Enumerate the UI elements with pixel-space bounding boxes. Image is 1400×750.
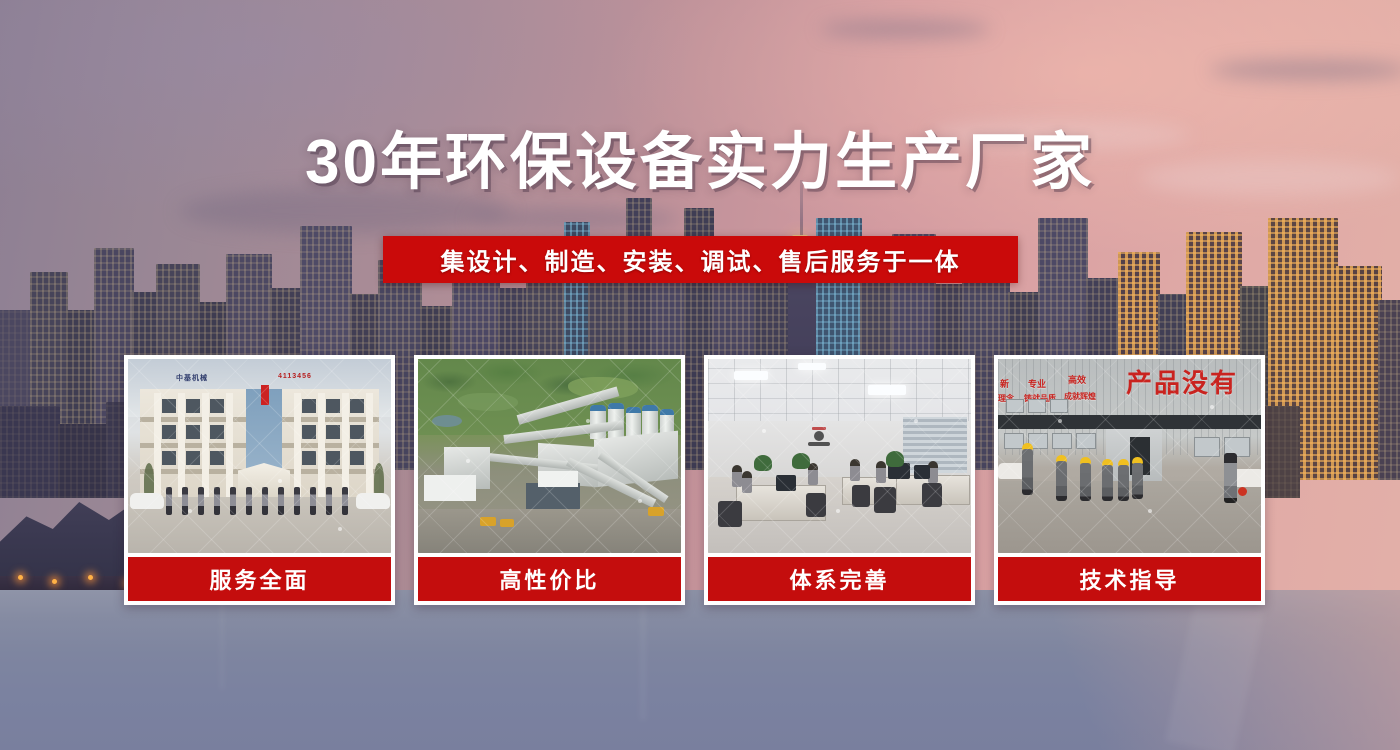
building-signage: 中基机械	[176, 373, 208, 383]
card-caption-text: 高性价比	[499, 563, 599, 595]
wall-decal	[804, 425, 834, 451]
feature-card[interactable]: 中基机械 4113456	[124, 355, 395, 605]
cloud	[820, 20, 990, 38]
card-caption-text: 技术指导	[1079, 563, 1179, 595]
card-caption-text: 服务全面	[209, 563, 309, 595]
subtitle-text: 集设计、制造、安装、调试、售后服务于一体	[441, 242, 961, 277]
feature-card-list: 中基机械 4113456	[124, 355, 1277, 605]
feature-card[interactable]: 体系完善	[704, 355, 975, 605]
card-photo-workers-training: 产品没有 新 专业 高效 理念 铸就品质 成就辉煌	[998, 359, 1261, 553]
card-caption: 技术指导	[998, 557, 1261, 601]
hero-banner: 30年环保设备实力生产厂家 集设计、制造、安装、调试、售后服务于一体	[0, 0, 1400, 750]
feature-card[interactable]: 产品没有 新 专业 高效 理念 铸就品质 成就辉煌	[994, 355, 1265, 605]
river-reflection-glow	[880, 590, 1400, 750]
card-photo-office-building: 中基机械 4113456	[128, 359, 391, 553]
card-photo-office-interior	[708, 359, 971, 553]
card-caption: 体系完善	[708, 557, 971, 601]
feature-card[interactable]: 高性价比	[414, 355, 685, 605]
subtitle-banner: 集设计、制造、安装、调试、售后服务于一体	[383, 236, 1018, 283]
card-caption-text: 体系完善	[789, 563, 889, 595]
card-caption: 服务全面	[128, 557, 391, 601]
card-photo-plant-aerial	[418, 359, 681, 553]
building-phone-number: 4113456	[278, 373, 312, 380]
page-title: 30年环保设备实力生产厂家	[0, 132, 1400, 194]
factory-wall-main-text: 产品没有	[1126, 363, 1238, 400]
cloud	[1210, 60, 1400, 80]
card-caption: 高性价比	[418, 557, 681, 601]
